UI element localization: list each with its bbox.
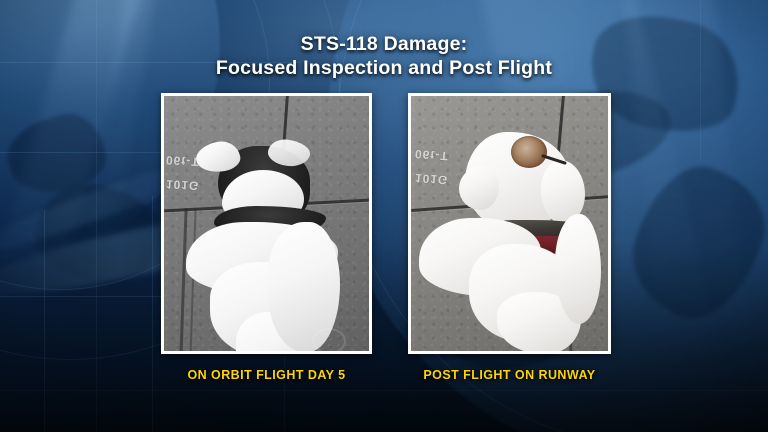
photo-panel-post-flight[interactable]: 06t-T 101G <box>408 93 611 354</box>
continent-silhouette <box>0 106 112 204</box>
grid-line <box>0 390 768 391</box>
title-line-1: STS-118 Damage: <box>0 33 768 57</box>
grid-line <box>152 196 153 432</box>
photo-on-orbit: 06t-T 101G <box>164 96 369 351</box>
grid-line <box>44 210 45 432</box>
caption-post-flight: POST FLIGHT ON RUNWAY <box>408 368 611 382</box>
page-title: STS-118 Damage: Focused Inspection and P… <box>0 33 768 81</box>
title-line-2: Focused Inspection and Post Flight <box>0 57 768 81</box>
thermal-tile-surface <box>411 96 608 351</box>
continent-silhouette <box>29 177 166 291</box>
continent-silhouette <box>616 152 768 334</box>
caption-on-orbit: ON ORBIT FLIGHT DAY 5 <box>161 368 372 382</box>
slide-root: STS-118 Damage: Focused Inspection and P… <box>0 0 768 432</box>
photo-post-flight: 06t-T 101G <box>411 96 608 351</box>
photo-panel-on-orbit[interactable]: 06t-T 101G <box>161 93 372 354</box>
